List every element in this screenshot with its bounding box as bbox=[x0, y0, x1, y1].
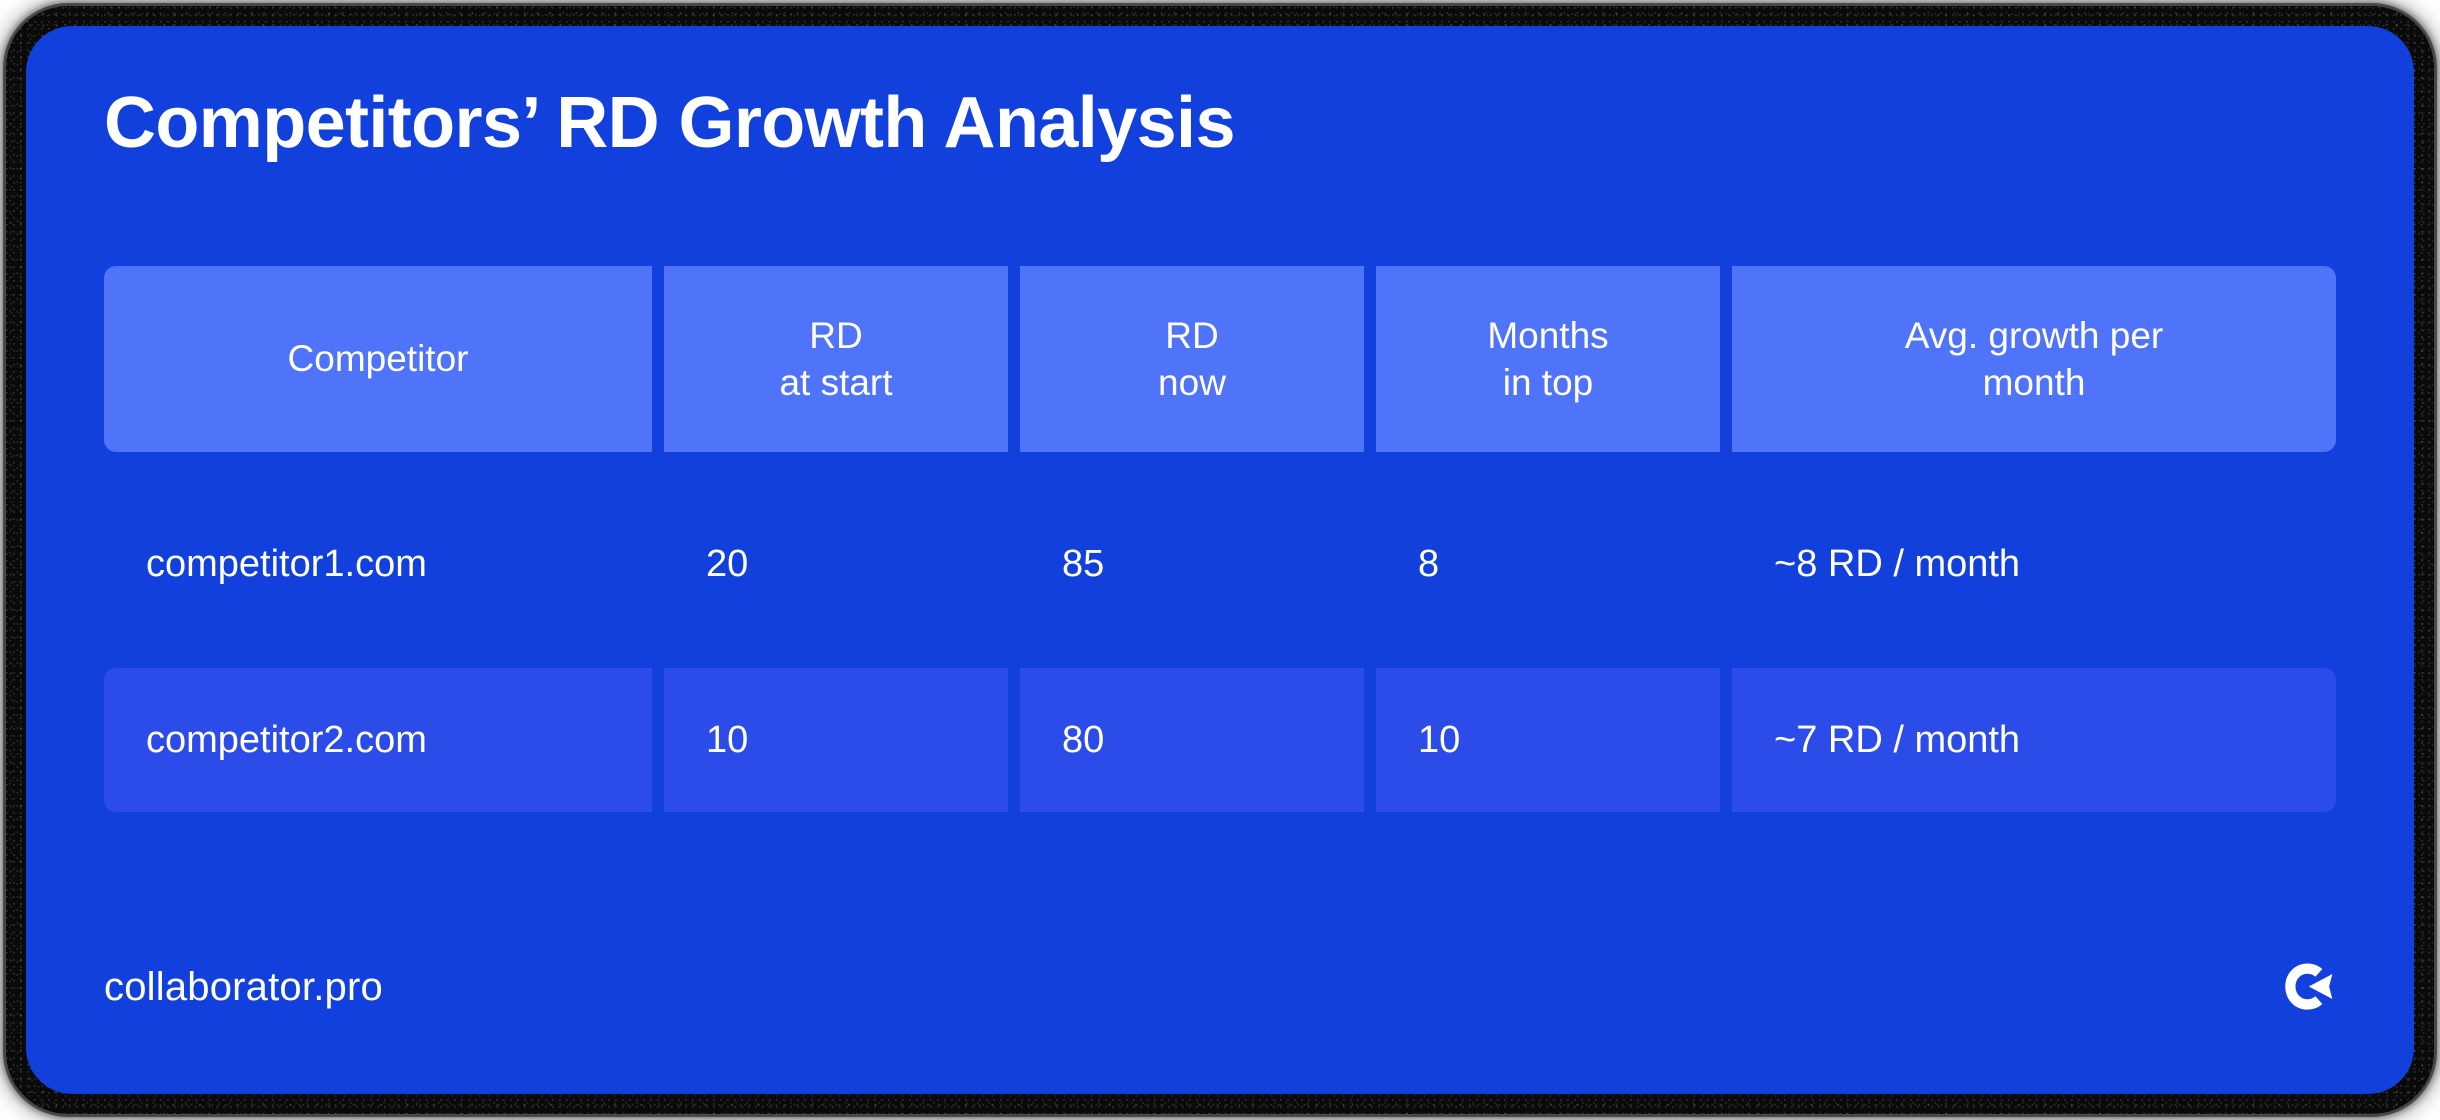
cell-rd-now: 80 bbox=[1020, 668, 1364, 812]
card-footer: collaborator.pro bbox=[104, 956, 2336, 1018]
collaborator-logo-icon bbox=[2278, 958, 2336, 1016]
header-body-spacer bbox=[104, 452, 2336, 492]
cell-avg-growth: ~8 RD / month bbox=[1732, 492, 2336, 636]
cell-rd-at-start: 20 bbox=[664, 492, 1008, 636]
column-header-months-in-top: Months in top bbox=[1376, 266, 1720, 452]
column-header-avg-growth: Avg. growth per month bbox=[1732, 266, 2336, 452]
cell-rd-now: 85 bbox=[1020, 492, 1364, 636]
cell-avg-growth: ~7 RD / month bbox=[1732, 668, 2336, 812]
table-row: competitor1.com 20 85 8 ~8 RD / month bbox=[104, 492, 2336, 636]
row-spacer bbox=[104, 636, 2336, 668]
cell-competitor: competitor2.com bbox=[104, 668, 652, 812]
cell-rd-at-start: 10 bbox=[664, 668, 1008, 812]
page-title: Competitors’ RD Growth Analysis bbox=[104, 86, 1235, 162]
column-header-rd-now: RD now bbox=[1020, 266, 1364, 452]
site-url: collaborator.pro bbox=[104, 965, 383, 1010]
column-header-competitor: Competitor bbox=[104, 266, 652, 452]
info-card: Competitors’ RD Growth Analysis Competit… bbox=[26, 26, 2414, 1094]
column-header-rd-at-start: RD at start bbox=[664, 266, 1008, 452]
cell-months-in-top: 8 bbox=[1376, 492, 1720, 636]
competitors-table: Competitor RD at start RD now Months in … bbox=[104, 266, 2336, 812]
screenshot-frame: Competitors’ RD Growth Analysis Competit… bbox=[6, 6, 2434, 1114]
cell-competitor: competitor1.com bbox=[104, 492, 652, 636]
table-row: competitor2.com 10 80 10 ~7 RD / month bbox=[104, 668, 2336, 812]
card-content: Competitors’ RD Growth Analysis Competit… bbox=[104, 26, 2336, 1094]
table-header-row: Competitor RD at start RD now Months in … bbox=[104, 266, 2336, 452]
cell-months-in-top: 10 bbox=[1376, 668, 1720, 812]
